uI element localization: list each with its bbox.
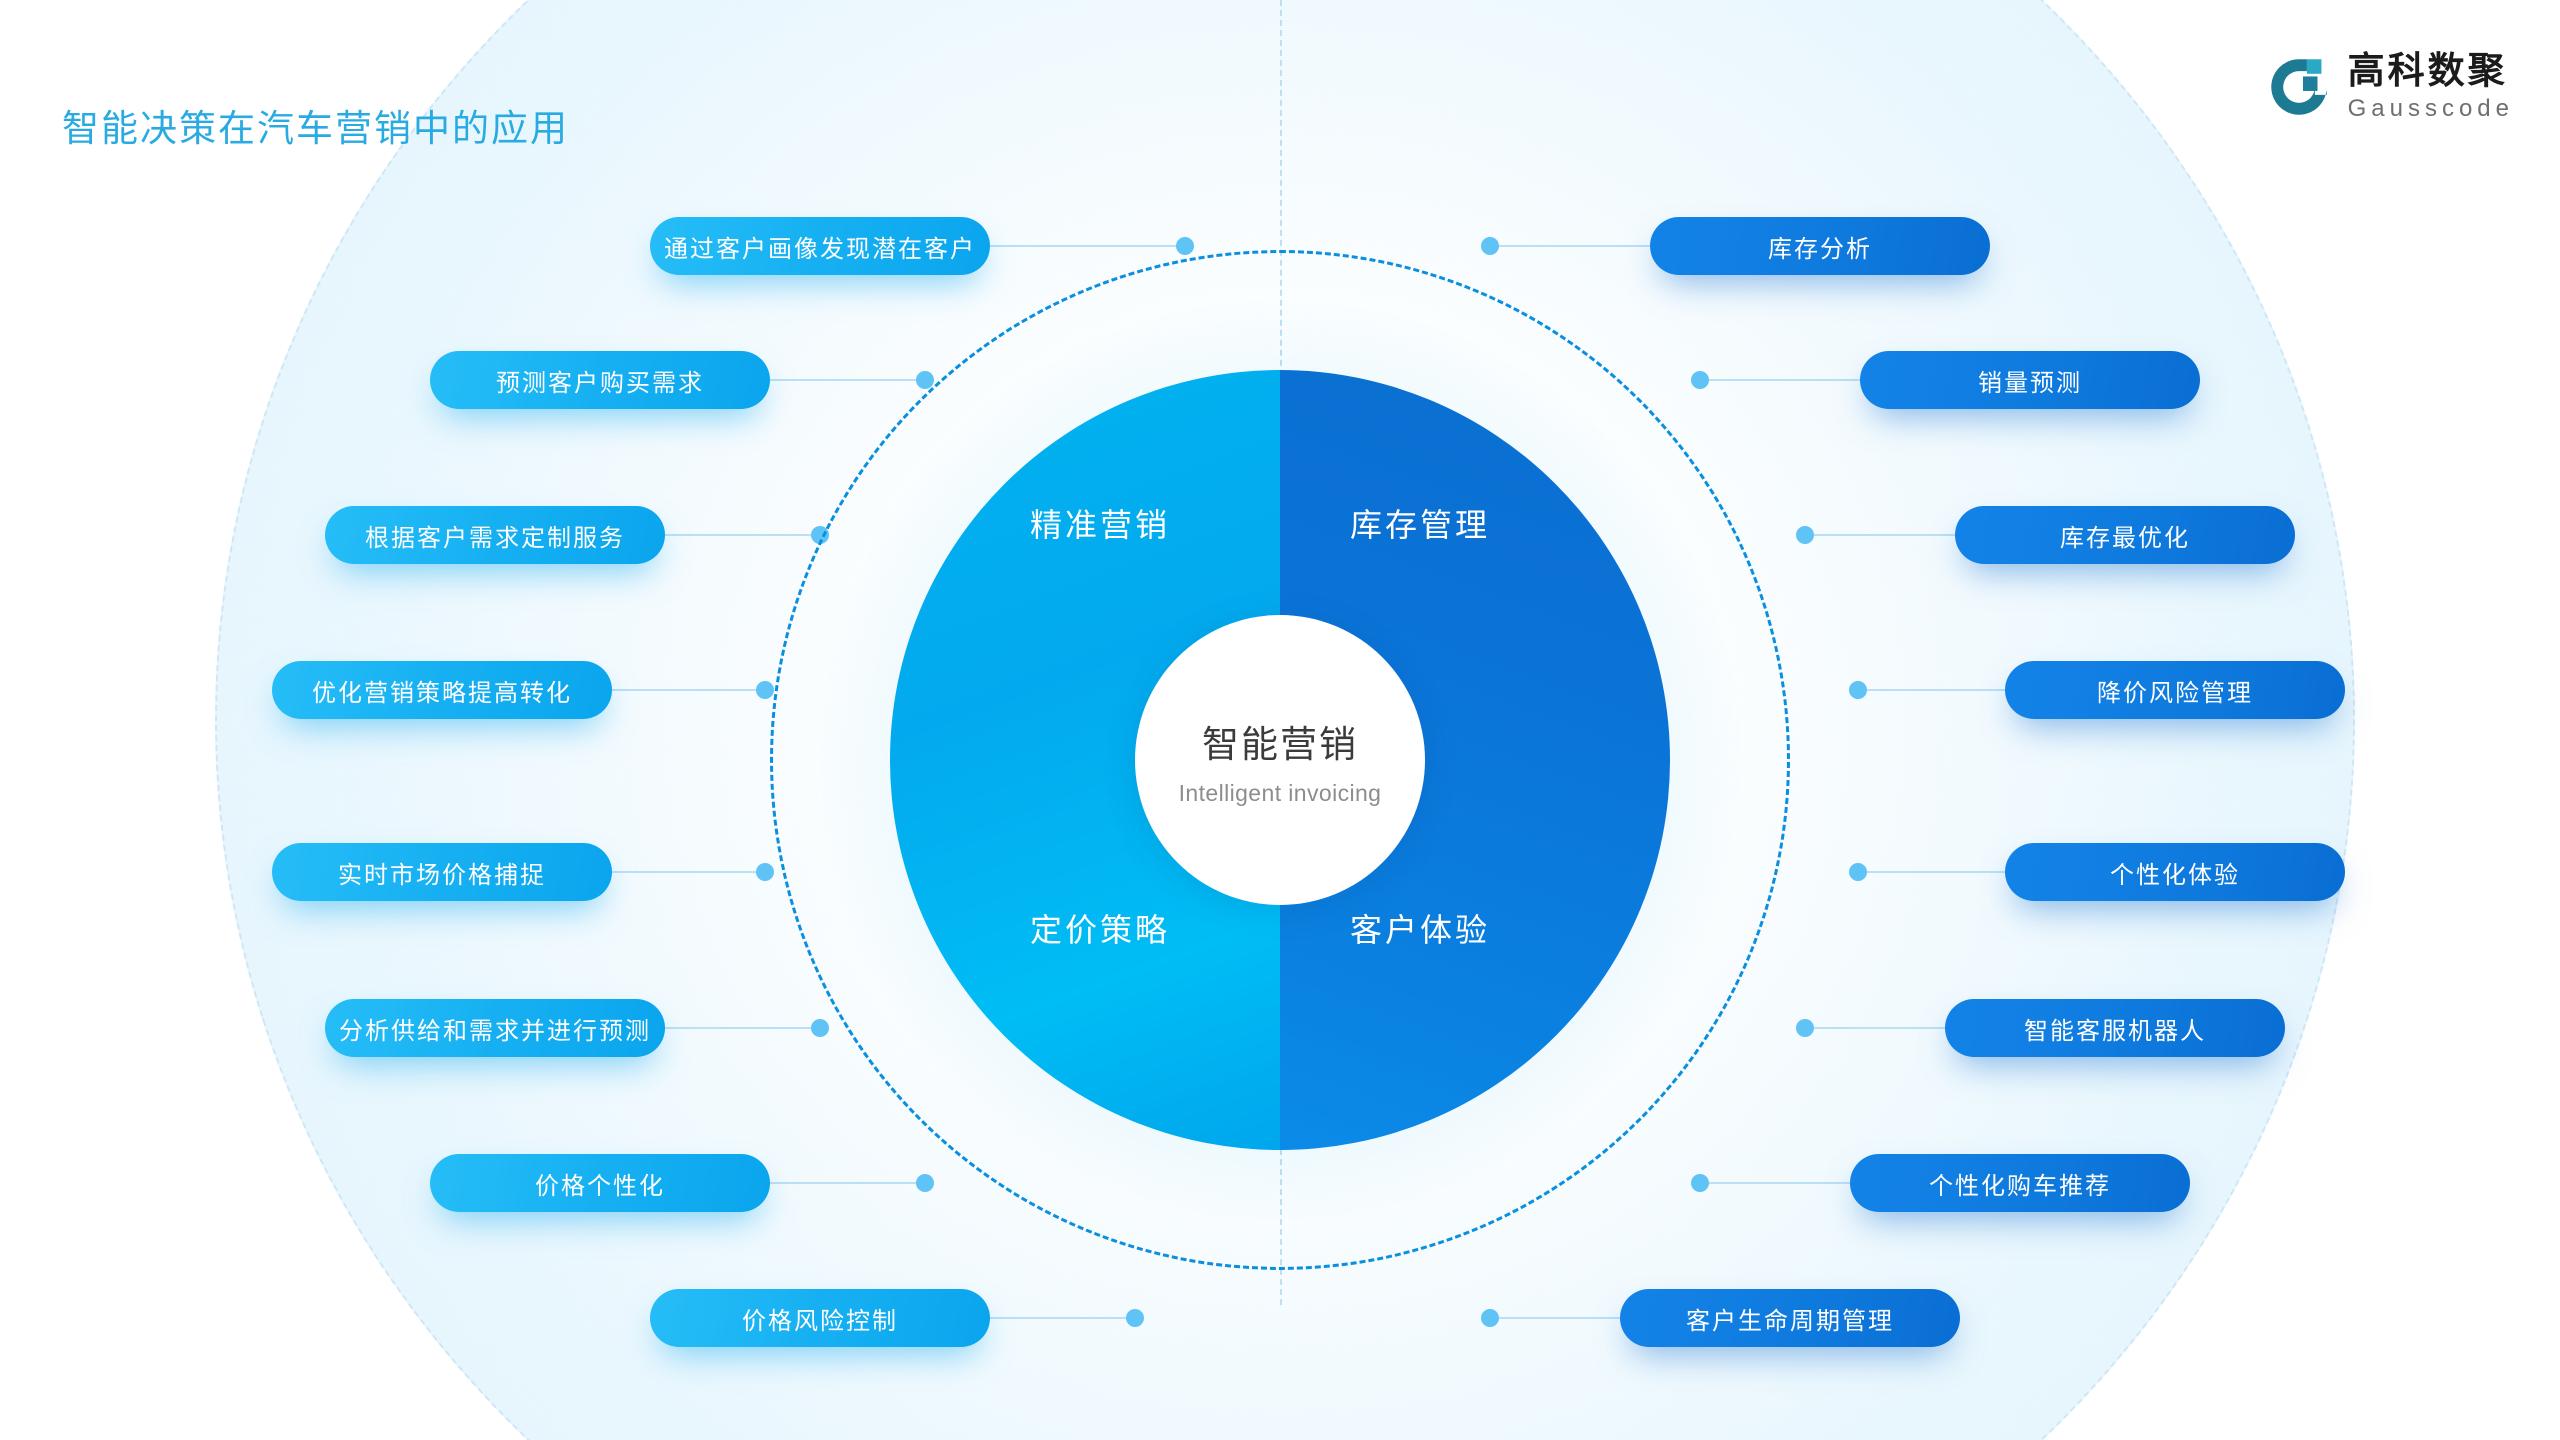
- center-title-en: Intelligent invoicing: [1179, 780, 1382, 807]
- right-item-pill-4[interactable]: 降价风险管理: [2005, 661, 2345, 719]
- gausscode-logo-icon: [2266, 54, 2332, 120]
- left-item-pill-3[interactable]: 根据客户需求定制服务: [325, 506, 665, 564]
- right-item-pill-7[interactable]: 个性化购车推荐: [1850, 1154, 2190, 1212]
- brand-name-cn: 高科数聚: [2348, 52, 2514, 89]
- left-item-pill-7[interactable]: 价格个性化: [430, 1154, 770, 1212]
- right-item-pill-1[interactable]: 库存分析: [1650, 217, 1990, 275]
- center-title-cn: 智能营销: [1202, 714, 1358, 768]
- right-item-pill-6[interactable]: 智能客服机器人: [1945, 999, 2285, 1057]
- left-item-pill-5[interactable]: 实时市场价格捕捉: [272, 843, 612, 901]
- brand-logo: 高科数聚 Gausscode: [2266, 52, 2514, 121]
- quadrant-label-top-right: 库存管理: [1350, 500, 1490, 546]
- left-item-pill-2[interactable]: 预测客户购买需求: [430, 351, 770, 409]
- right-item-pill-2[interactable]: 销量预测: [1860, 351, 2200, 409]
- left-item-pill-6[interactable]: 分析供给和需求并进行预测: [325, 999, 665, 1057]
- right-item-pill-5[interactable]: 个性化体验: [2005, 843, 2345, 901]
- left-item-pill-1[interactable]: 通过客户画像发现潜在客户: [650, 217, 990, 275]
- central-donut: 精准营销 库存管理 定价策略 客户体验 智能营销 Intelligent inv…: [890, 370, 1670, 1150]
- brand-name-en: Gausscode: [2348, 97, 2514, 121]
- left-item-pill-8[interactable]: 价格风险控制: [650, 1289, 990, 1347]
- right-item-pill-3[interactable]: 库存最优化: [1955, 506, 2295, 564]
- right-item-pill-8[interactable]: 客户生命周期管理: [1620, 1289, 1960, 1347]
- quadrant-label-top-left: 精准营销: [1030, 500, 1170, 546]
- infographic-canvas: 智能决策在汽车营销中的应用 高科数聚 Gausscode: [0, 0, 2560, 1440]
- donut-center-hub: 智能营销 Intelligent invoicing: [1135, 615, 1425, 905]
- page-title: 智能决策在汽车营销中的应用: [62, 98, 569, 152]
- left-item-pill-4[interactable]: 优化营销策略提高转化: [272, 661, 612, 719]
- quadrant-label-bottom-right: 客户体验: [1350, 905, 1490, 951]
- quadrant-label-bottom-left: 定价策略: [1030, 905, 1170, 951]
- brand-text: 高科数聚 Gausscode: [2348, 52, 2514, 121]
